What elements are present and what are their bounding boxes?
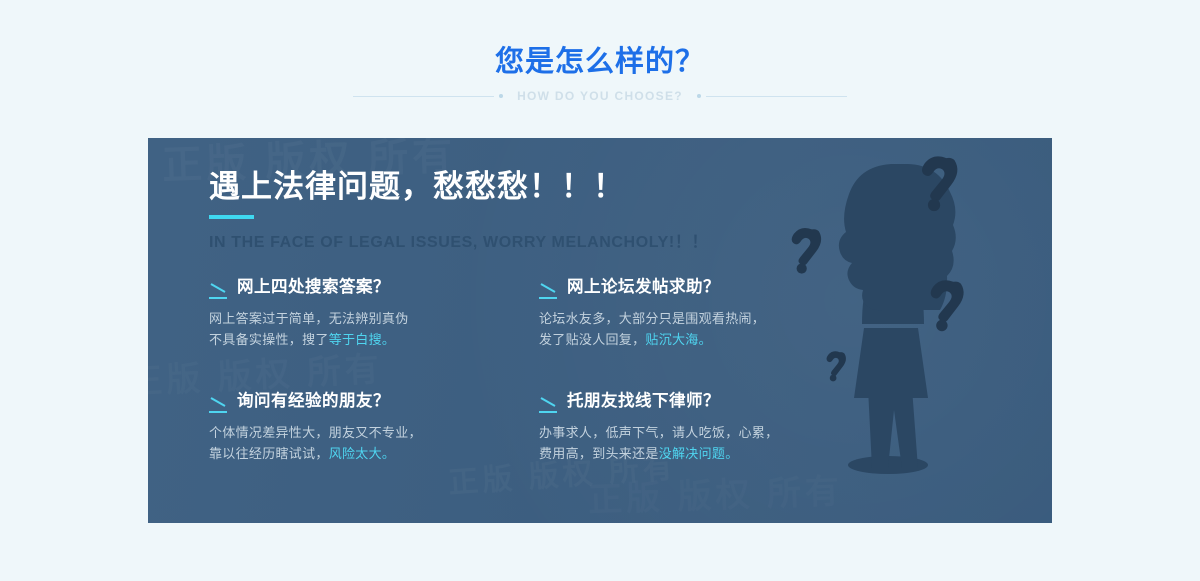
divider-line-left <box>353 94 503 98</box>
question-mark-icon <box>792 228 821 274</box>
section-header: 您是怎么样的？ HOW DO YOU CHOOSE? <box>0 0 1200 103</box>
list-item-body-line2-pre: 发了贴没人回复， <box>539 332 645 347</box>
list-item-body: 网上答案过于简单，无法辨别真伪 不具备实操性，搜了等于白搜。 <box>209 308 539 350</box>
list-item-body-line1: 网上答案过于简单，无法辨别真伪 <box>209 311 409 326</box>
page-title: 您是怎么样的？ <box>0 44 1200 80</box>
list-item-highlight: 等于白搜 <box>329 332 382 347</box>
list-item-title: 网上论坛发帖求助？ <box>567 276 720 298</box>
list-item-highlight: 风险太大 <box>329 446 382 461</box>
list-item-body-line1: 论坛水友多，大部分只是围观看热闹， <box>539 311 765 326</box>
list-item-body-line2-pre: 靠以往经历瞎试试， <box>209 446 329 461</box>
arrow-slash-icon <box>209 282 228 299</box>
list-item-body: 论坛水友多，大部分只是围观看热闹， 发了贴没人回复，贴沉大海。 <box>539 308 869 350</box>
list-item-body: 办事求人，低声下气，请人吃饭，心累， 费用高，到头来还是没解决问题。 <box>539 422 869 464</box>
arrow-slash-icon <box>539 282 558 299</box>
list-item-body-line1: 个体情况差异性大，朋友又不专业， <box>209 425 422 440</box>
list-item[interactable]: 网上四处搜索答案？ 网上答案过于简单，无法辨别真伪 不具备实操性，搜了等于白搜。 <box>209 276 539 350</box>
list-item-body-line2-pre: 不具备实操性，搜了 <box>209 332 329 347</box>
list-item-title: 网上四处搜索答案？ <box>237 276 390 298</box>
list-item-body-line2-pre: 费用高，到头来还是 <box>539 446 659 461</box>
list-item-body: 个体情况差异性大，朋友又不专业， 靠以往经历瞎试试，风险太大。 <box>209 422 539 464</box>
arrow-slash-icon <box>539 396 558 413</box>
panel-subheading: IN THE FACE OF LEGAL ISSUES, WORRY MELAN… <box>209 228 708 252</box>
list-item-header: 询问有经验的朋友？ <box>209 390 539 413</box>
content-panel: 正版 版权 所有 正版 版权 所有 正版 版权 所有 正版 版权 所有 遇上法律… <box>148 138 1052 523</box>
list-item-body-line2-post: 。 <box>699 332 712 347</box>
list-item-title: 托朋友找线下律师？ <box>567 390 720 412</box>
divider-line-right <box>697 94 847 98</box>
heading-accent-underline <box>209 215 254 219</box>
list-item-body-line2-post: 。 <box>382 446 395 461</box>
panel-heading-block: 遇上法律问题，愁愁愁！！！ IN THE FACE OF LEGAL ISSUE… <box>209 166 708 252</box>
list-item-body-line1: 办事求人，低声下气，请人吃饭，心累， <box>539 425 778 440</box>
list-item-highlight: 贴沉大海 <box>645 332 698 347</box>
list-item-header: 网上论坛发帖求助？ <box>539 276 869 299</box>
panel-heading: 遇上法律问题，愁愁愁！！！ <box>209 166 708 208</box>
pain-point-list: 网上四处搜索答案？ 网上答案过于简单，无法辨别真伪 不具备实操性，搜了等于白搜。… <box>209 276 909 464</box>
subtitle-row: HOW DO YOU CHOOSE? <box>0 89 1200 103</box>
page-subtitle: HOW DO YOU CHOOSE? <box>517 89 683 103</box>
list-item-body-line2-post: 。 <box>382 332 395 347</box>
arrow-slash-icon <box>209 396 228 413</box>
list-item-header: 托朋友找线下律师？ <box>539 390 869 413</box>
list-item-highlight: 没解决问题 <box>659 446 726 461</box>
list-item[interactable]: 询问有经验的朋友？ 个体情况差异性大，朋友又不专业， 靠以往经历瞎试试，风险太大… <box>209 390 539 464</box>
list-item[interactable]: 网上论坛发帖求助？ 论坛水友多，大部分只是围观看热闹， 发了贴没人回复，贴沉大海… <box>539 276 869 350</box>
list-item-title: 询问有经验的朋友？ <box>237 390 390 412</box>
list-item[interactable]: 托朋友找线下律师？ 办事求人，低声下气，请人吃饭，心累， 费用高，到头来还是没解… <box>539 390 869 464</box>
list-item-body-line2-post: 。 <box>725 446 738 461</box>
list-item-header: 网上四处搜索答案？ <box>209 276 539 299</box>
